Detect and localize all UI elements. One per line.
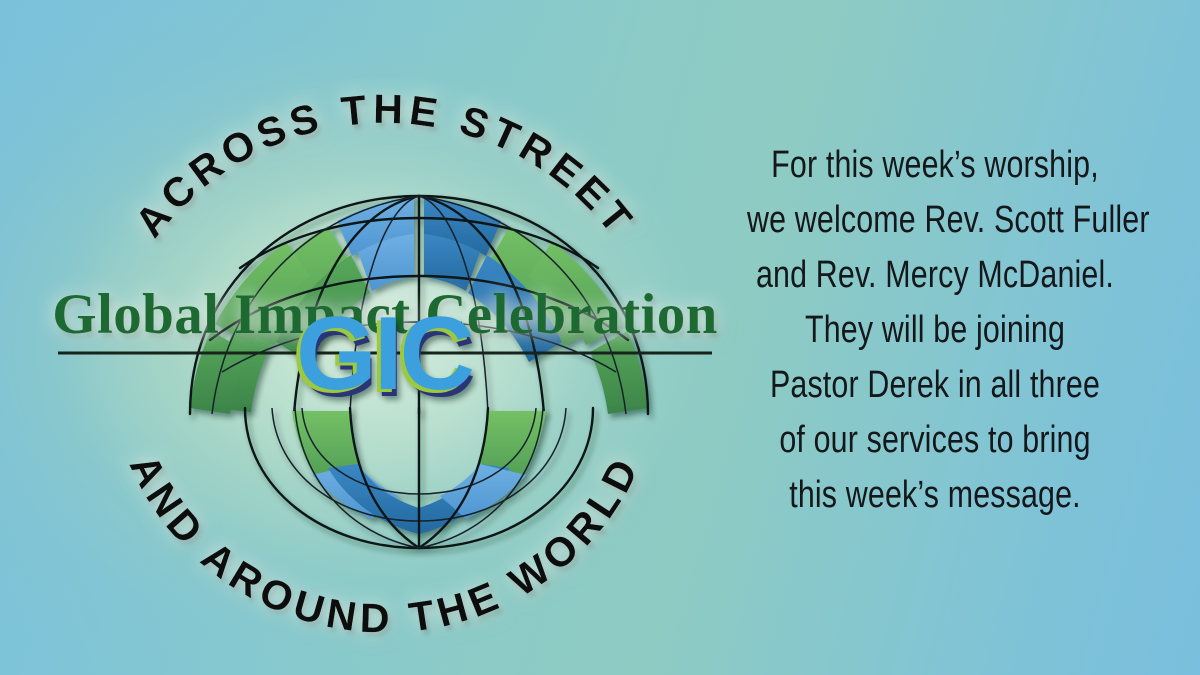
gic-logo: ACROSS THE STREET AND AROUND THE WORLD G… — [40, 78, 730, 588]
announcement-line: of our services to bring — [747, 413, 1123, 468]
announcement-line: and Rev. Mercy McDaniel. — [747, 248, 1123, 303]
announcement-line: They will be joining — [747, 303, 1123, 358]
announcement-line: we welcome Rev. Scott Fuller — [747, 193, 1123, 248]
globe-lower-hemisphere — [245, 408, 593, 548]
logo-monogram: GIC GIC GIC — [292, 296, 474, 419]
announcement-slide: ACROSS THE STREET AND AROUND THE WORLD G… — [0, 0, 1200, 675]
announcement-line: For this week’s worship, — [747, 138, 1123, 193]
monogram-blue-layer: GIC — [296, 296, 473, 412]
announcement-line: this week’s message. — [747, 468, 1123, 523]
worship-announcement: For this week’s worship, we welcome Rev.… — [700, 138, 1170, 523]
announcement-line: Pastor Derek in all three — [747, 358, 1123, 413]
